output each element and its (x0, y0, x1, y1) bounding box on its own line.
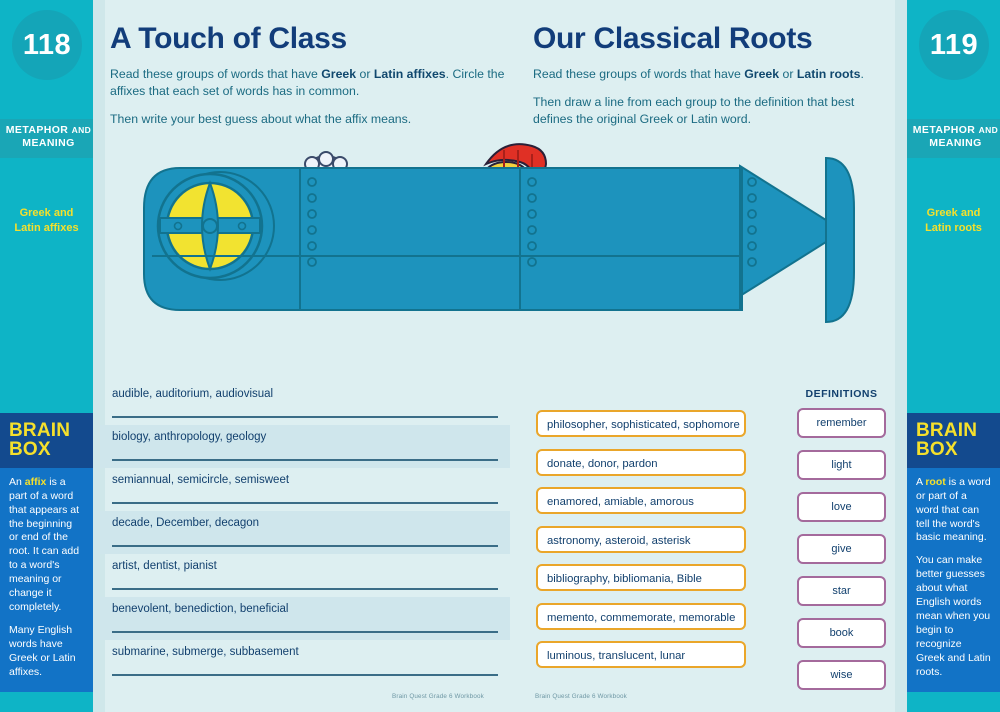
left-brain-box-keyword: affix (25, 476, 47, 488)
word-group-text: biology, anthropology, geology (112, 425, 498, 443)
right-brain-box-keyword: root (925, 476, 945, 488)
left-topic-label: Greek and Latin affixes (0, 206, 93, 235)
affix-word-list: audible, auditorium, audiovisual biology… (100, 382, 510, 683)
root-group-box[interactable]: bibliography, bibliomania, Bible (536, 564, 746, 591)
right-brain-box-header: BRAIN BOX (907, 413, 1000, 467)
right-brain-box-para-1: A root is a word or part of a word that … (916, 476, 991, 546)
left-unit-tab-line1: METAPHOR (6, 124, 69, 136)
root-group-box[interactable]: luminous, translucent, lunar (536, 641, 746, 668)
word-group-row[interactable]: benevolent, benediction, beneficial (100, 597, 510, 640)
left-sidebar: 118 METAPHOR AND MEANING Greek and Latin… (0, 0, 93, 712)
word-group-row[interactable]: decade, December, decagon (100, 511, 510, 554)
answer-line[interactable] (112, 588, 498, 590)
right-topic-label: Greek and Latin roots (907, 206, 1000, 235)
right-page-title: Our Classical Roots (533, 0, 888, 55)
left-brain-box-header: BRAIN BOX (0, 413, 93, 467)
answer-line[interactable] (112, 545, 498, 547)
definition-box[interactable]: light (797, 450, 886, 480)
root-group-box[interactable]: memento, commemorate, memorable (536, 603, 746, 630)
left-brain-box-para-1: An affix is a part of a word that appear… (9, 476, 84, 616)
left-brain-box-title-line2: BOX (9, 439, 51, 460)
answer-line[interactable] (112, 416, 498, 418)
root-group-box[interactable]: enamored, amiable, amorous (536, 487, 746, 514)
right-brain-box: BRAIN BOX A root is a word or part of a … (907, 413, 1000, 692)
definitions-header: DEFINITIONS (797, 388, 886, 400)
workbook-spread: 118 METAPHOR AND MEANING Greek and Latin… (0, 0, 1000, 712)
right-page-content: Our Classical Roots Read these groups of… (533, 0, 888, 128)
left-instruction-1: Read these groups of words that have Gre… (110, 66, 525, 100)
submarine-illustration (100, 138, 900, 386)
right-brain-box-body: A root is a word or part of a word that … (907, 468, 1000, 692)
root-group-box[interactable]: donate, donor, pardon (536, 449, 746, 476)
root-word-group-column: philosopher, sophisticated, sophomore do… (536, 410, 746, 680)
left-page-number: 118 (23, 29, 71, 62)
word-group-row[interactable]: semiannual, semicircle, semisweet (100, 468, 510, 511)
definition-box[interactable]: wise (797, 660, 886, 690)
left-instruction-2: Then write your best guess about what th… (110, 111, 525, 128)
root-group-box[interactable]: astronomy, asteroid, asterisk (536, 526, 746, 553)
left-page-footer: Brain Quest Grade 6 Workbook (392, 693, 484, 700)
right-instruction-2: Then draw a line from each group to the … (533, 94, 888, 128)
word-group-text: audible, auditorium, audiovisual (112, 382, 498, 400)
right-unit-tab-and: AND (979, 125, 999, 135)
definition-box[interactable]: love (797, 492, 886, 522)
word-group-text: decade, December, decagon (112, 511, 498, 529)
definitions-column: DEFINITIONS remember light love give sta… (797, 388, 886, 702)
right-brain-box-para-2: You can make better guesses about what E… (916, 554, 991, 680)
definition-box[interactable]: remember (797, 408, 886, 438)
answer-line[interactable] (112, 502, 498, 504)
word-group-row[interactable]: submarine, submerge, subbasement (100, 640, 510, 683)
left-page-number-badge: 118 (12, 10, 82, 80)
left-unit-tab-and: AND (72, 125, 92, 135)
definition-box[interactable]: book (797, 618, 886, 648)
answer-line[interactable] (112, 459, 498, 461)
word-group-row[interactable]: audible, auditorium, audiovisual (100, 382, 510, 425)
right-unit-tab-line1: METAPHOR (913, 124, 976, 136)
definition-box[interactable]: star (797, 576, 886, 606)
right-page-footer: Brain Quest Grade 6 Workbook (535, 693, 627, 700)
answer-line[interactable] (112, 674, 498, 676)
right-instruction-1: Read these groups of words that have Gre… (533, 66, 888, 83)
answer-line[interactable] (112, 631, 498, 633)
word-group-row[interactable]: biology, anthropology, geology (100, 425, 510, 468)
left-page-title: A Touch of Class (110, 0, 525, 55)
left-unit-tab-line2: MEANING (22, 137, 74, 149)
word-group-text: semiannual, semicircle, semisweet (112, 468, 498, 486)
word-group-text: artist, dentist, pianist (112, 554, 498, 572)
word-group-row[interactable]: artist, dentist, pianist (100, 554, 510, 597)
definition-box[interactable]: give (797, 534, 886, 564)
submarine-hull (144, 158, 854, 322)
right-sidebar: 119 METAPHOR AND MEANING Greek and Latin… (907, 0, 1000, 712)
right-page-number-badge: 119 (919, 10, 989, 80)
right-unit-tab: METAPHOR AND MEANING (907, 119, 1000, 158)
right-page-number: 119 (930, 29, 978, 62)
left-unit-tab: METAPHOR AND MEANING (0, 119, 97, 158)
word-group-text: submarine, submerge, subbasement (112, 640, 498, 658)
left-page-content: A Touch of Class Read these groups of wo… (110, 0, 525, 128)
right-brain-box-title: BRAIN BOX (916, 422, 991, 459)
left-brain-box-title: BRAIN BOX (9, 422, 84, 459)
right-unit-tab-line2: MEANING (929, 137, 981, 149)
left-brain-box-body: An affix is a part of a word that appear… (0, 468, 93, 692)
left-brain-box-para-2: Many English words have Greek or Latin a… (9, 624, 84, 680)
word-group-text: benevolent, benediction, beneficial (112, 597, 498, 615)
right-brain-box-title-line2: BOX (916, 439, 958, 460)
root-group-box[interactable]: philosopher, sophisticated, sophomore (536, 410, 746, 437)
left-brain-box: BRAIN BOX An affix is a part of a word t… (0, 413, 93, 692)
